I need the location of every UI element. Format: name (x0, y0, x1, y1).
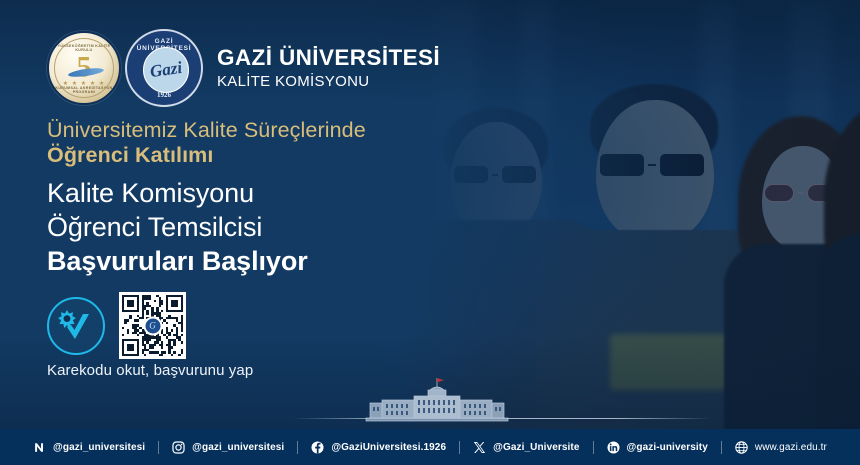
social-link-x[interactable]: @Gazi_Universite (459, 441, 592, 454)
social-handle: @gazi_universitesi (192, 442, 284, 453)
main-heading-line-3: Başvuruları Başlıyor (47, 244, 308, 278)
qr-center-monogram: G (149, 321, 156, 331)
gazi-rectorate-building-icon (352, 378, 522, 422)
social-handle: @Gazi_Universite (493, 442, 579, 453)
seal-numeral: 5 (49, 52, 119, 82)
social-link-instagram[interactable]: @gazi_universitesi (158, 441, 297, 454)
kicker-heading: Üniversitemiz Kalite Süreçlerinde Öğrenc… (47, 118, 366, 169)
announcement-banner: YÜKSEKÖĞRETİM KALİTE KURULU 5 ★ ★ ★ ★ ★ … (0, 0, 860, 465)
starburst-shape (58, 310, 76, 328)
social-link-facebook[interactable]: @GaziUniversitesi.1926 (297, 441, 459, 454)
social-link-website[interactable]: www.gazi.edu.tr (721, 441, 840, 454)
main-heading-line-2: Öğrenci Temsilcisi (47, 210, 308, 244)
seal-arc-bottom-text: KURUMSAL AKREDİTASYON PROGRAMI (49, 86, 119, 94)
social-footer: @gazi_universitesi @gazi_universitesi @G… (0, 429, 860, 465)
yokak-quality-seal-icon: YÜKSEKÖĞRETİM KALİTE KURULU 5 ★ ★ ★ ★ ★ … (47, 31, 121, 105)
kicker-line-1: Üniversitemiz Kalite Süreçlerinde (47, 118, 366, 143)
x-twitter-icon (473, 441, 486, 454)
brand-title: GAZİ ÜNİVERSİTESİ KALİTE KOMİSYONU (217, 46, 440, 89)
brand-title-secondary: KALİTE KOMİSYONU (217, 73, 440, 90)
social-link-linkedin[interactable]: @gazi-university (593, 441, 721, 454)
logo-lockup: YÜKSEKÖĞRETİM KALİTE KURULU 5 ★ ★ ★ ★ ★ … (47, 29, 440, 107)
facebook-icon (311, 441, 324, 454)
social-handle: @gazi_universitesi (53, 442, 145, 453)
main-heading-line-1: Kalite Komisyonu (47, 176, 308, 210)
social-handle: @gazi-university (627, 442, 708, 453)
verified-check-icon (47, 297, 105, 355)
brand-title-primary: GAZİ ÜNİVERSİTESİ (217, 46, 440, 70)
qr-code[interactable]: G (119, 292, 186, 359)
gazi-seal-year: 1926 (127, 91, 201, 99)
gazi-university-seal-icon: GAZİ ÜNİVERSİTESİ Gazi 1926 (125, 29, 203, 107)
social-link-sahibinden[interactable]: @gazi_universitesi (20, 441, 158, 454)
linkedin-icon (607, 441, 620, 454)
qr-caption: Karekodu okut, başvurunu yap (47, 362, 253, 379)
sahibinden-n-icon (33, 441, 46, 454)
main-heading: Kalite Komisyonu Öğrenci Temsilcisi Başv… (47, 176, 308, 278)
kicker-line-2: Öğrenci Katılımı (47, 143, 366, 168)
qr-call-to-action[interactable]: G (47, 292, 186, 359)
social-handle: www.gazi.edu.tr (755, 442, 827, 453)
gazi-seal-inner-disc: Gazi (143, 47, 189, 93)
qr-center-logo: G (143, 316, 162, 335)
gazi-seal-monogram: Gazi (149, 58, 184, 82)
globe-icon (735, 441, 748, 454)
instagram-icon (172, 441, 185, 454)
social-handle: @GaziUniversitesi.1926 (331, 442, 446, 453)
